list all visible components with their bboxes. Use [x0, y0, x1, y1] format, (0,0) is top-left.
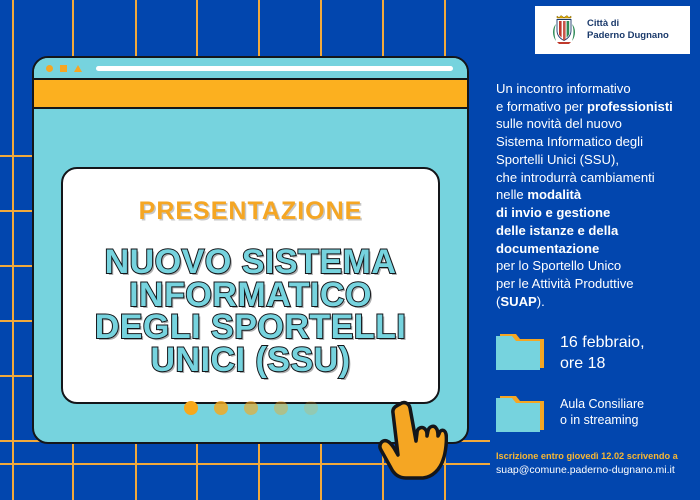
description-emphasis: documentazione — [496, 241, 599, 256]
event-location-text: Aula Consiliare o in streaming — [560, 392, 644, 429]
municipality-logo: Città di Paderno Dugnano — [535, 6, 690, 54]
description-emphasis: professionisti — [587, 99, 673, 114]
slide-headline-line-4: UNICI (SSU) — [95, 344, 407, 377]
coat-of-arms-icon — [549, 13, 579, 47]
event-time: ore 18 — [560, 354, 645, 375]
slide-headline-line-2: INFORMATICO — [95, 279, 407, 312]
slide-headline-line-1: NUOVO SISTEMA — [95, 246, 407, 279]
pagination-dot-5[interactable] — [304, 401, 318, 415]
description-text: Un incontro informativo — [496, 81, 631, 96]
description-line-4: Sistema Informatico degli — [496, 133, 696, 151]
description-line-13: (SUAP). — [496, 293, 696, 311]
browser-window-mockup: PRESENTAZIONE NUOVO SISTEMAINFORMATICODE… — [32, 56, 469, 444]
municipality-logo-text: Città di Paderno Dugnano — [587, 18, 669, 42]
folder-icon — [496, 330, 548, 372]
logo-line-1: Città di — [587, 18, 669, 30]
description-line-5: Sportelli Unici (SSU), — [496, 151, 696, 169]
event-venue: Aula Consiliare — [560, 396, 644, 412]
folder-icon — [496, 392, 548, 434]
description-line-2: e formativo per professionisti — [496, 98, 696, 116]
slide-pagination-dots[interactable] — [184, 401, 318, 415]
description-line-7: nelle modalità — [496, 186, 696, 204]
logo-line-2: Paderno Dugnano — [587, 30, 669, 42]
event-description: Un incontro informativoe formativo per p… — [496, 80, 696, 311]
description-line-6: che introdurrà cambiamenti — [496, 169, 696, 187]
registration-footer: Iscrizione entro giovedì 12.02 scrivendo… — [496, 450, 700, 479]
description-text: che introdurrà cambiamenti — [496, 170, 655, 185]
description-line-9: delle istanze e della — [496, 222, 696, 240]
description-text: e formativo per — [496, 99, 587, 114]
slide-card: PRESENTAZIONE NUOVO SISTEMAINFORMATICODE… — [61, 167, 440, 404]
event-date: 16 febbraio, — [560, 333, 645, 354]
description-line-12: per le Attività Produttive — [496, 275, 696, 293]
description-text: Sistema Informatico degli — [496, 134, 643, 149]
description-text: sulle novità del nuovo — [496, 116, 622, 131]
description-line-8: di invio e gestione — [496, 204, 696, 222]
description-text: per le Attività Produttive — [496, 276, 634, 291]
description-text: per lo Sportello Unico — [496, 258, 621, 273]
address-bar[interactable] — [96, 66, 453, 71]
triangle-icon[interactable] — [74, 65, 82, 72]
grid-line-vertical — [12, 0, 14, 500]
circle-icon[interactable] — [46, 65, 53, 72]
browser-window-controls — [46, 65, 82, 72]
browser-viewport: PRESENTAZIONE NUOVO SISTEMAINFORMATICODE… — [34, 109, 467, 442]
description-text: ). — [537, 294, 545, 309]
browser-titlebar — [34, 58, 467, 80]
pagination-dot-3[interactable] — [244, 401, 258, 415]
slide-headline-line-3: DEGLI SPORTELLI — [95, 311, 407, 344]
event-location-block: Aula Consiliare o in streaming — [496, 392, 696, 434]
description-emphasis: di invio e gestione — [496, 205, 610, 220]
pagination-dot-2[interactable] — [214, 401, 228, 415]
description-line-11: per lo Sportello Unico — [496, 257, 696, 275]
browser-toolbar — [34, 80, 467, 109]
description-emphasis: modalità — [527, 187, 581, 202]
registration-deadline: Iscrizione entro giovedì 12.02 scrivendo… — [496, 450, 700, 463]
slide-kicker: PRESENTAZIONE — [139, 199, 363, 224]
event-datetime-text: 16 febbraio, ore 18 — [560, 330, 645, 375]
pagination-dot-4[interactable] — [274, 401, 288, 415]
pointing-hand-cursor-icon — [378, 400, 448, 482]
registration-email[interactable]: suap@comune.paderno-dugnano.mi.it — [496, 463, 700, 478]
event-datetime-block: 16 febbraio, ore 18 — [496, 330, 696, 375]
pagination-dot-1[interactable] — [184, 401, 198, 415]
description-line-1: Un incontro informativo — [496, 80, 696, 98]
description-text: nelle — [496, 187, 527, 202]
square-icon[interactable] — [60, 65, 67, 72]
description-text: Sportelli Unici (SSU), — [496, 152, 619, 167]
description-line-3: sulle novità del nuovo — [496, 115, 696, 133]
description-line-10: documentazione — [496, 240, 696, 258]
event-streaming: o in streaming — [560, 412, 644, 428]
poster-canvas: PRESENTAZIONE NUOVO SISTEMAINFORMATICODE… — [0, 0, 700, 500]
description-emphasis: delle istanze e della — [496, 223, 618, 238]
description-emphasis: SUAP — [500, 294, 536, 309]
slide-headline: NUOVO SISTEMAINFORMATICODEGLI SPORTELLIU… — [95, 246, 407, 377]
